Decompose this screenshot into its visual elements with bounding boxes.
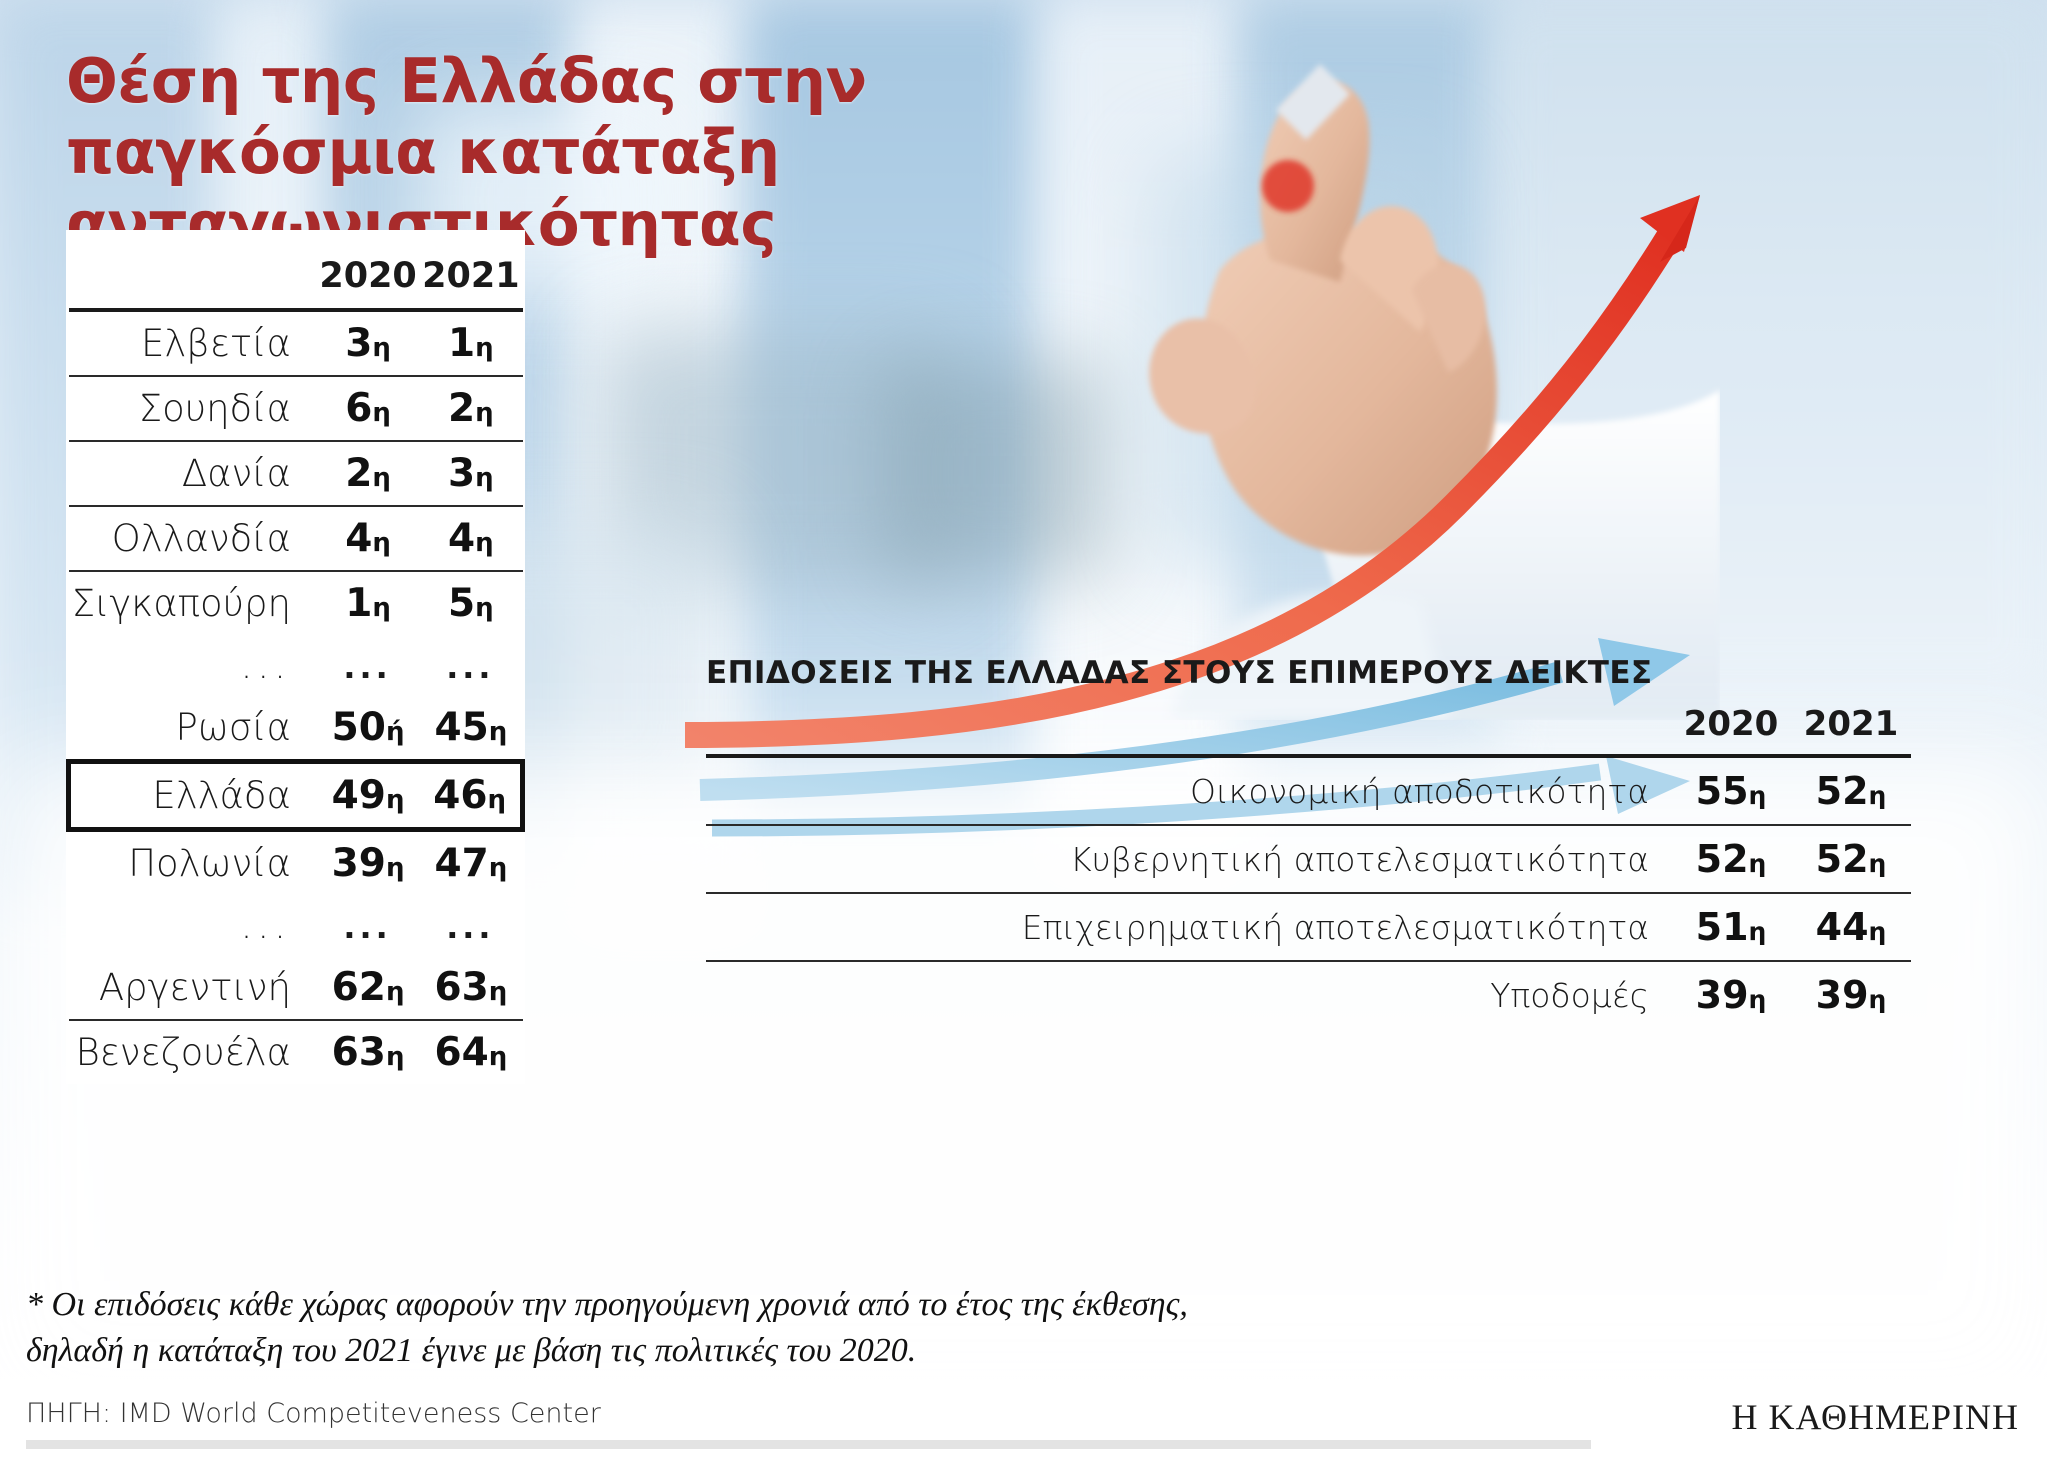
indicator-2021: 52η: [1791, 825, 1911, 893]
country-name: Ελλάδα: [69, 762, 317, 830]
ellipsis-2021: ...: [419, 895, 522, 956]
sub-indicators-heading: ΕΠΙΔΟΣΕΙΣ ΤΗΣ ΕΛΛΑΔΑΣ ΣΤΟΥΣ ΕΠΙΜΕΡΟΥΣ ΔΕ…: [706, 655, 1653, 691]
rank-2021: 64η: [419, 1020, 522, 1084]
country-name: Αργεντινή: [69, 956, 317, 1020]
table-row: Επιχειρηματική αποτελεσματικότητα 51η 44…: [706, 893, 1911, 961]
indicator-2020: 39η: [1671, 961, 1791, 1028]
indicator-2020: 52η: [1671, 825, 1791, 893]
rank-2021: 2η: [419, 376, 522, 441]
rank-2021: 63η: [419, 956, 522, 1020]
rank-2020: 6η: [317, 376, 419, 441]
col-header-country: [69, 230, 317, 310]
indicator-name: Οικονομική αποδοτικότητα: [706, 756, 1671, 825]
table-row: Οικονομική αποδοτικότητα 55η 52η: [706, 756, 1911, 825]
table-row: Δανία 2η 3η: [69, 441, 523, 506]
table-row: Υποδομές 39η 39η: [706, 961, 1911, 1028]
footnote: * Οι επιδόσεις κάθε χώρας αφορούν την πρ…: [26, 1282, 1726, 1373]
rank-2020: 62η: [317, 956, 419, 1020]
rank-2020: 1η: [317, 571, 419, 635]
publisher-logo: Η ΚΑΘΗΜΕΡΙΝΗ: [1731, 1396, 2019, 1438]
indicator-2020: 51η: [1671, 893, 1791, 961]
rank-2020: 50ή: [317, 696, 419, 762]
indicator-name: Υποδομές: [706, 961, 1671, 1028]
footnote-line-1: * Οι επιδόσεις κάθε χώρας αφορούν την πρ…: [26, 1282, 1726, 1328]
table-row-greece-highlight: Ελλάδα 49η 46η: [69, 762, 523, 830]
indicator-2020: 55η: [1671, 756, 1791, 825]
rank-2020: 4η: [317, 506, 419, 571]
ellipsis-country: ...: [69, 895, 317, 956]
global-ranking-table-panel: 2020 2021 Ελβετία 3η 1η Σουηδία 6η 2η Δα…: [66, 230, 525, 1084]
rank-2021: 3η: [419, 441, 522, 506]
rank-2020: 49η: [317, 762, 419, 830]
table-header-row: 2020 2021: [69, 230, 523, 310]
footer-divider: [26, 1440, 1591, 1449]
table-row-ellipsis: ... ... ...: [69, 895, 523, 956]
rank-2020: 63η: [317, 1020, 419, 1084]
country-name: Ρωσία: [69, 696, 317, 762]
country-name: Σουηδία: [69, 376, 317, 441]
col-header-2020: 2020: [1671, 690, 1791, 756]
rank-2021: 4η: [419, 506, 522, 571]
indicator-2021: 39η: [1791, 961, 1911, 1028]
indicator-2021: 44η: [1791, 893, 1911, 961]
sub-indicators-table: 2020 2021 Οικονομική αποδοτικότητα 55η 5…: [706, 690, 1911, 1028]
col-header-2020: 2020: [317, 230, 419, 310]
rank-2020: 39η: [317, 830, 419, 896]
col-header-2021: 2021: [1791, 690, 1911, 756]
table-row: Ολλανδία 4η 4η: [69, 506, 523, 571]
sub-indicators-table-panel: 2020 2021 Οικονομική αποδοτικότητα 55η 5…: [706, 690, 1911, 1028]
rank-2020: 2η: [317, 441, 419, 506]
footnote-line-2: δηλαδή η κατάταξη του 2021 έγινε με βάση…: [26, 1328, 1726, 1374]
table-row: Σουηδία 6η 2η: [69, 376, 523, 441]
rank-2021: 46η: [419, 762, 522, 830]
table-row: Αργεντινή 62η 63η: [69, 956, 523, 1020]
ellipsis-2021: ...: [419, 635, 522, 696]
global-ranking-table: 2020 2021 Ελβετία 3η 1η Σουηδία 6η 2η Δα…: [66, 230, 525, 1084]
table-row: Ελβετία 3η 1η: [69, 310, 523, 376]
table-row: Κυβερνητική αποτελεσματικότητα 52η 52η: [706, 825, 1911, 893]
country-name: Δανία: [69, 441, 317, 506]
table-row: Πολωνία 39η 47η: [69, 830, 523, 896]
rank-2021: 47η: [419, 830, 522, 896]
rank-2020: 3η: [317, 310, 419, 376]
table-header-row: 2020 2021: [706, 690, 1911, 756]
table-row: Βενεζουέλα 63η 64η: [69, 1020, 523, 1084]
country-name: Ελβετία: [69, 310, 317, 376]
table-row-ellipsis: ... ... ...: [69, 635, 523, 696]
country-name: Ολλανδία: [69, 506, 317, 571]
ellipsis-country: ...: [69, 635, 317, 696]
indicator-name: Κυβερνητική αποτελεσματικότητα: [706, 825, 1671, 893]
col-header-2021: 2021: [419, 230, 522, 310]
table-row: Ρωσία 50ή 45η: [69, 696, 523, 762]
rank-2021: 45η: [419, 696, 522, 762]
page-title: Θέση της Ελλάδας στην παγκόσμια κατάταξη…: [66, 46, 1126, 260]
country-name: Πολωνία: [69, 830, 317, 896]
ellipsis-2020: ...: [317, 635, 419, 696]
country-name: Βενεζουέλα: [69, 1020, 317, 1084]
table-row: Σιγκαπούρη 1η 5η: [69, 571, 523, 635]
country-name: Σιγκαπούρη: [69, 571, 317, 635]
indicator-name: Επιχειρηματική αποτελεσματικότητα: [706, 893, 1671, 961]
indicator-2021: 52η: [1791, 756, 1911, 825]
rank-2021: 1η: [419, 310, 522, 376]
source-label: ΠΗΓΗ: IMD World Competiteveness Center: [26, 1398, 601, 1429]
rank-2021: 5η: [419, 571, 522, 635]
ellipsis-2020: ...: [317, 895, 419, 956]
col-header-indicator: [706, 690, 1671, 756]
